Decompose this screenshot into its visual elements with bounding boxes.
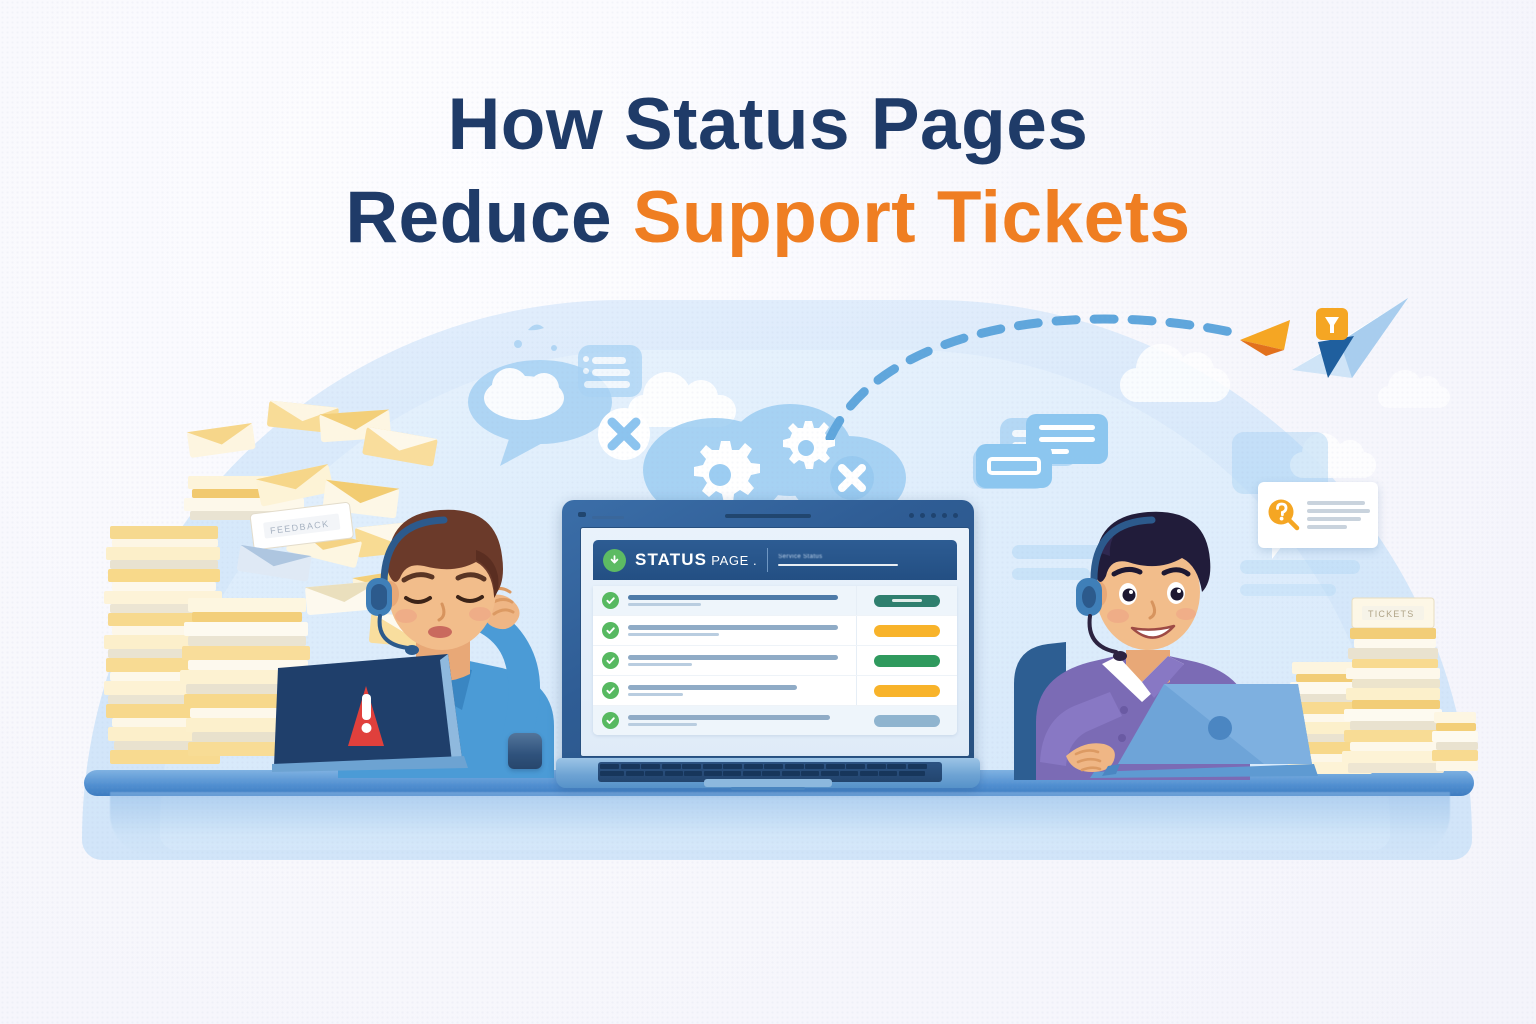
header-divider xyxy=(767,548,768,572)
meta-text: Service Status xyxy=(778,554,947,560)
row-status-cell xyxy=(856,586,957,615)
table-row[interactable] xyxy=(593,616,957,646)
faq-text-lines xyxy=(1307,501,1370,529)
row-status-cell xyxy=(856,646,957,675)
row-status-cell xyxy=(857,706,957,735)
table-row[interactable] xyxy=(593,706,957,735)
status-badge xyxy=(874,715,940,727)
title-line-2: Reduce Support Tickets xyxy=(0,171,1536,264)
left-laptop xyxy=(272,648,472,772)
table-row[interactable] xyxy=(593,586,957,616)
check-icon xyxy=(602,622,619,639)
row-text-placeholder xyxy=(628,625,856,636)
row-status-cell xyxy=(856,616,957,645)
bezel-dots xyxy=(909,513,958,518)
status-badge xyxy=(874,655,940,667)
row-text-placeholder xyxy=(628,655,856,666)
status-page-header: STATUS PAGE . Service Status xyxy=(593,540,957,580)
title-line-1: How Status Pages xyxy=(0,78,1536,171)
laptop-notch xyxy=(731,787,805,790)
status-badge xyxy=(874,625,940,637)
camera-slot xyxy=(725,514,811,518)
status-row-list xyxy=(593,586,957,735)
table-row[interactable] xyxy=(593,676,957,706)
bezel-detail xyxy=(578,512,586,517)
laptop-trackpad xyxy=(704,779,832,787)
status-badge xyxy=(874,595,940,607)
computer-mouse xyxy=(508,733,542,769)
desk-reflection xyxy=(110,792,1450,854)
check-icon xyxy=(602,682,619,699)
brand-light: PAGE . xyxy=(707,553,757,568)
row-text-placeholder xyxy=(628,715,857,726)
illustration-canvas: FEEDBACK xyxy=(0,0,1536,1024)
title-accent: Support Tickets xyxy=(633,177,1191,258)
bezel-detail xyxy=(592,516,624,519)
meta-underline xyxy=(778,564,898,566)
download-arrow-icon xyxy=(603,549,626,572)
row-text-placeholder xyxy=(628,685,856,696)
svg-text:TICKETS: TICKETS xyxy=(1368,609,1414,619)
center-laptop: STATUS PAGE . Service Status xyxy=(556,500,980,790)
brand-strong: STATUS xyxy=(635,550,707,569)
status-page-brand: STATUS PAGE . xyxy=(635,550,757,570)
laptop-lid: STATUS PAGE . Service Status xyxy=(562,500,974,768)
laptop-screen: STATUS PAGE . Service Status xyxy=(580,527,970,757)
status-badge xyxy=(874,685,940,697)
row-status-cell xyxy=(856,676,957,705)
page-title: How Status Pages Reduce Support Tickets xyxy=(0,78,1536,265)
check-icon xyxy=(602,652,619,669)
paper-plane-icon xyxy=(1232,292,1412,392)
status-page-meta: Service Status xyxy=(778,554,947,566)
table-row[interactable] xyxy=(593,646,957,676)
title-plain: Reduce xyxy=(345,177,632,258)
right-laptop xyxy=(1068,672,1318,778)
row-text-placeholder xyxy=(628,595,856,606)
x-mark-icon xyxy=(830,456,874,500)
check-icon xyxy=(602,712,619,729)
check-icon xyxy=(602,592,619,609)
x-mark-icon xyxy=(598,408,650,460)
